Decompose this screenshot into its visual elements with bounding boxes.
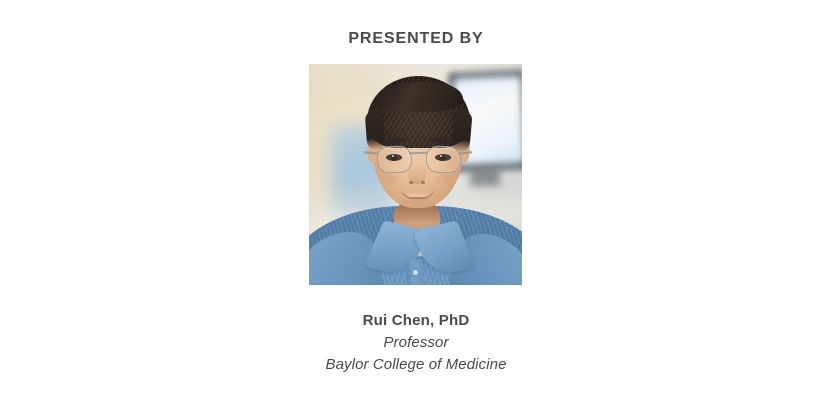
nostril-right (421, 181, 425, 184)
presenter-role: Professor (0, 332, 832, 354)
presenter-caption: Rui Chen, PhD Professor Baylor College o… (0, 310, 832, 376)
presenter-name: Rui Chen, PhD (0, 310, 832, 332)
portrait-subject (309, 64, 522, 285)
chin (397, 198, 439, 210)
nostril-left (409, 181, 413, 184)
eyeglasses-lens-right (425, 145, 461, 174)
cheek-left (380, 172, 400, 186)
cheek-right (436, 172, 456, 186)
presented-by-heading: PRESENTED BY (0, 29, 832, 49)
presenter-photo (309, 64, 522, 285)
presenter-slide: PRESENTED BY (0, 0, 832, 403)
hair-side-left (365, 109, 386, 150)
shirt-button-top (413, 270, 418, 275)
presenter-organization: Baylor College of Medicine (0, 354, 832, 376)
